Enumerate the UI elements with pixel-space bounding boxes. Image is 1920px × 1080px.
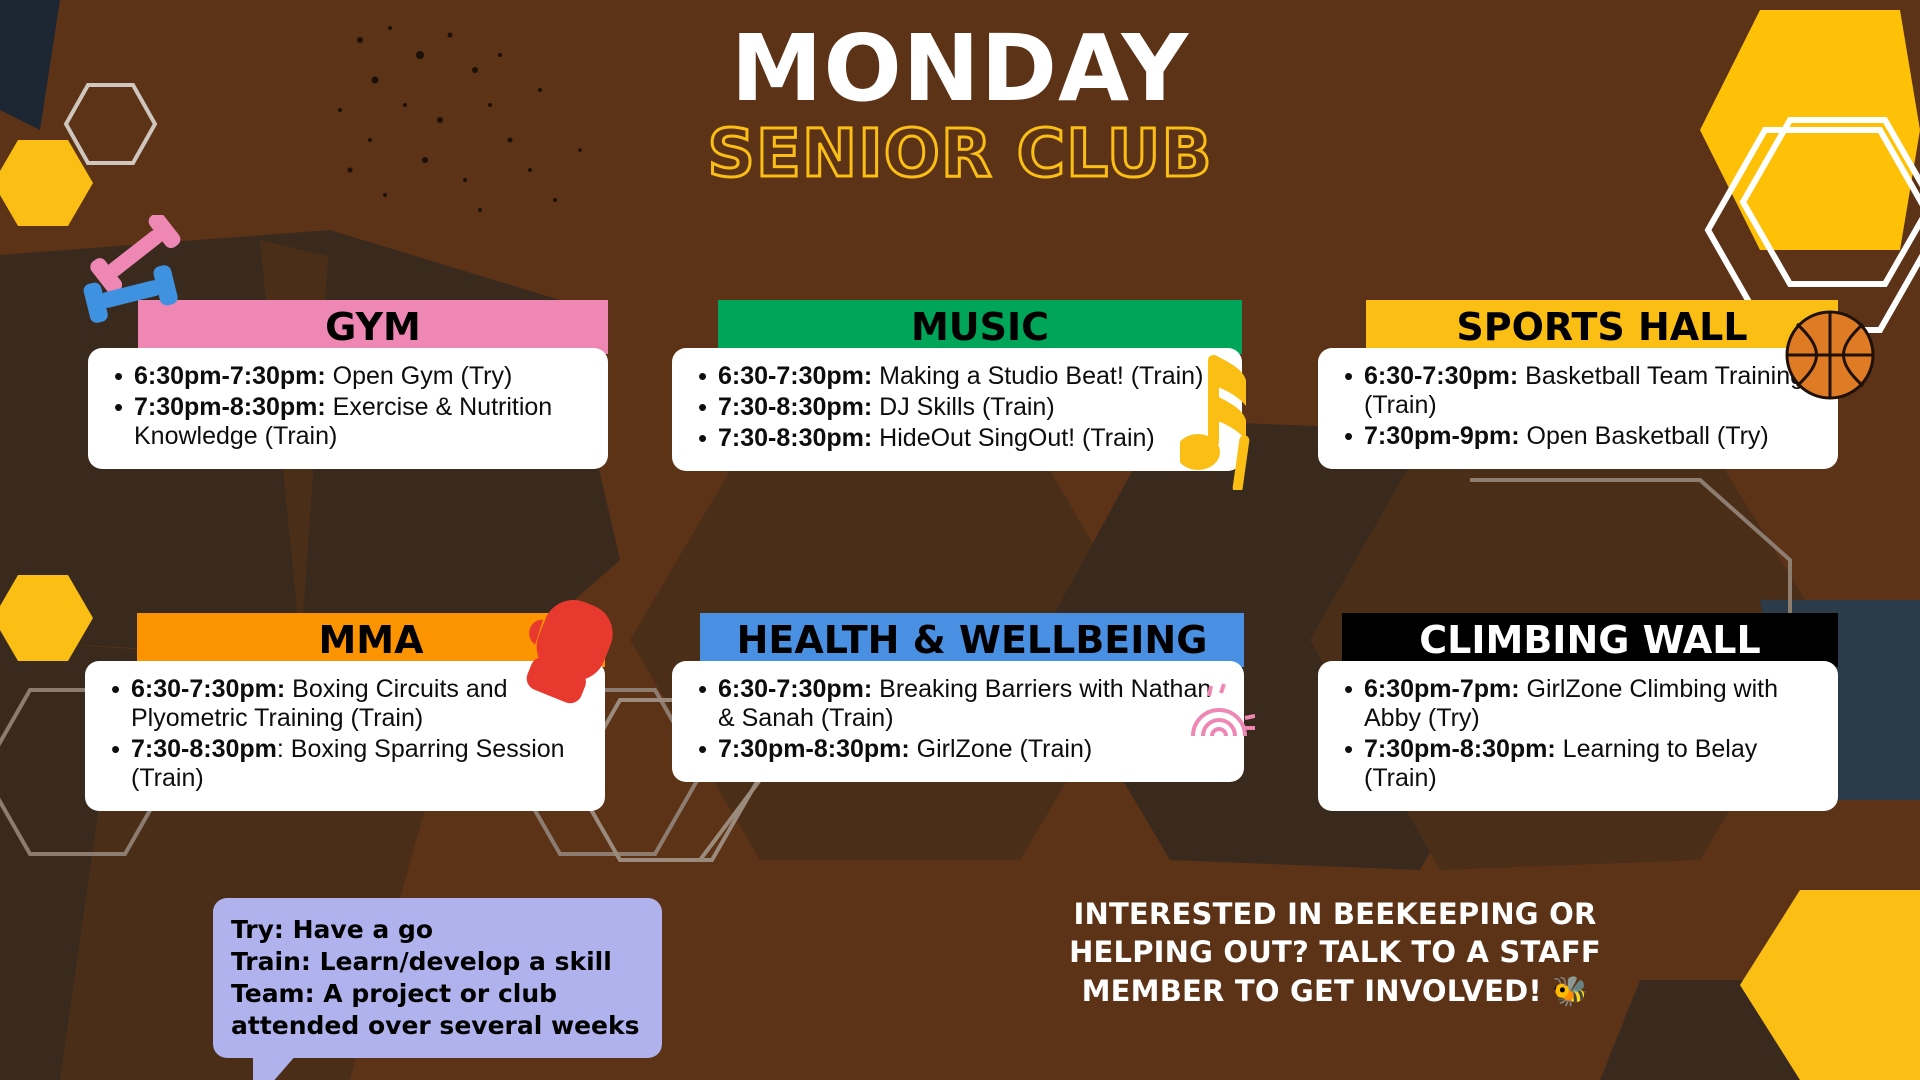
music-note-icon [1180,340,1290,490]
session-desc: GirlZone (Train) [910,735,1092,763]
card-body-gym: 6:30pm-7:30pm: Open Gym (Try) 7:30pm-8:3… [88,348,608,469]
session-time: 7:30-8:30pm [131,735,277,763]
session-list-climbing-wall: 6:30pm-7pm: GirlZone Climbing with Abby … [1338,675,1818,793]
list-item: 7:30-8:30pm: Boxing Sparring Session (Tr… [105,735,585,793]
legend-bubble-tail [253,1054,297,1080]
list-item: 7:30pm-9pm: Open Basketball (Try) [1338,422,1818,451]
footer-note: INTERESTED IN BEEKEEPING OR HELPING OUT?… [1055,895,1615,1010]
list-item: 7:30-8:30pm: DJ Skills (Train) [692,393,1222,422]
boxing-glove-icon [520,590,630,720]
session-list-mma: 6:30-7:30pm: Boxing Circuits and Plyomet… [105,675,585,793]
list-item: 6:30pm-7:30pm: Open Gym (Try) [108,362,588,391]
session-time: 7:30pm-8:30pm: [718,735,910,763]
session-time: 7:30pm-8:30pm: [1364,735,1556,763]
session-desc: Open Gym (Try) [326,362,513,390]
card-title-sports-hall: SPORTS HALL [1366,300,1838,354]
session-desc: DJ Skills (Train) [872,393,1054,421]
card-body-music: 6:30-7:30pm: Making a Studio Beat! (Trai… [672,348,1242,471]
session-desc: Open Basketball (Try) [1520,422,1769,450]
card-climbing-wall[interactable]: CLIMBING WALL 6:30pm-7pm: GirlZone Climb… [1318,613,1838,811]
wellbeing-icon [1185,680,1255,750]
session-desc: HideOut SingOut! (Train) [872,424,1155,452]
legend-line-team: Team: A project or club [231,978,640,1010]
session-time: 6:30-7:30pm: [718,675,872,703]
list-item: 6:30pm-7pm: GirlZone Climbing with Abby … [1338,675,1818,733]
list-item: 6:30-7:30pm: Boxing Circuits and Plyomet… [105,675,585,733]
session-time: 7:30-8:30pm: [718,393,872,421]
list-item: 6:30-7:30pm: Basketball Team Training (T… [1338,362,1818,420]
page-title: MONDAY [0,22,1920,116]
list-item: 7:30pm-8:30pm: Learning to Belay (Train) [1338,735,1818,793]
card-title-music: MUSIC [718,300,1242,354]
list-item: 6:30-7:30pm: Making a Studio Beat! (Trai… [692,362,1222,391]
legend-bubble: Try: Have a go Train: Learn/develop a sk… [213,898,662,1058]
session-list-gym: 6:30pm-7:30pm: Open Gym (Try) 7:30pm-8:3… [108,362,588,451]
footer-line-3: MEMBER TO GET INVOLVED! 🐝 [1055,972,1615,1010]
session-time: 6:30pm-7:30pm: [134,362,326,390]
card-music[interactable]: MUSIC 6:30-7:30pm: Making a Studio Beat!… [672,300,1242,471]
footer-line-1: INTERESTED IN BEEKEEPING OR [1055,895,1615,933]
session-list-health-wellbeing: 6:30-7:30pm: Breaking Barriers with Nath… [692,675,1224,764]
session-time: 6:30-7:30pm: [718,362,872,390]
card-title-health-wellbeing: HEALTH & WELLBEING [700,613,1244,667]
list-item: 7:30-8:30pm: HideOut SingOut! (Train) [692,424,1222,453]
footer-line-2: HELPING OUT? TALK TO A STAFF [1055,933,1615,971]
session-desc: Making a Studio Beat! (Train) [872,362,1203,390]
dumbbell-icon [80,215,210,335]
session-time: 7:30-8:30pm: [718,424,872,452]
legend-line-train: Train: Learn/develop a skill [231,946,640,978]
list-item: 7:30pm-8:30pm: Exercise & Nutrition Know… [108,393,588,451]
legend-line-try: Try: Have a go [231,914,640,946]
session-time: 6:30-7:30pm: [1364,362,1518,390]
card-body-sports-hall: 6:30-7:30pm: Basketball Team Training (T… [1318,348,1838,469]
card-title-climbing-wall: CLIMBING WALL [1342,613,1838,667]
card-sports-hall[interactable]: SPORTS HALL 6:30-7:30pm: Basketball Team… [1318,300,1838,469]
poster-canvas: MONDAY SENIOR CLUB [0,0,1920,1080]
session-list-sports-hall: 6:30-7:30pm: Basketball Team Training (T… [1338,362,1818,451]
basketball-icon [1785,310,1875,400]
session-time: 7:30pm-8:30pm: [134,393,326,421]
session-list-music: 6:30-7:30pm: Making a Studio Beat! (Trai… [692,362,1222,453]
card-body-climbing-wall: 6:30pm-7pm: GirlZone Climbing with Abby … [1318,661,1838,811]
card-health-wellbeing[interactable]: HEALTH & WELLBEING 6:30-7:30pm: Breaking… [672,613,1244,782]
list-item: 6:30-7:30pm: Breaking Barriers with Nath… [692,675,1224,733]
session-time: 6:30pm-7pm: [1364,675,1520,703]
session-time: 6:30-7:30pm: [131,675,285,703]
session-time: 7:30pm-9pm: [1364,422,1520,450]
page-subtitle: SENIOR CLUB [0,118,1920,191]
poster-header: MONDAY SENIOR CLUB [0,22,1920,190]
list-item: 7:30pm-8:30pm: GirlZone (Train) [692,735,1224,764]
card-body-health-wellbeing: 6:30-7:30pm: Breaking Barriers with Nath… [672,661,1244,782]
legend-line-team-cont: attended over several weeks [231,1010,640,1042]
